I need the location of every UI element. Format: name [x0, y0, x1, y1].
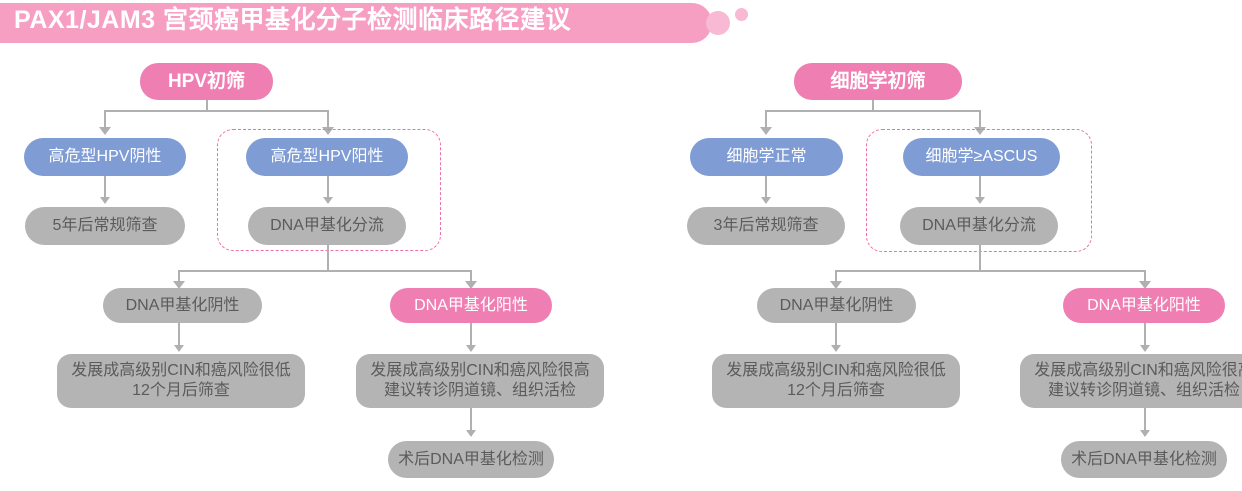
right-low-risk-outcome-node[interactable]: 发展成高级别CIN和癌风险很低 12个月后筛查 — [712, 354, 960, 408]
right-postop-node[interactable]: 术后DNA甲基化检测 — [1061, 441, 1227, 478]
left-neg-outcome-connector — [178, 323, 180, 346]
right-postop-arrow — [1140, 430, 1150, 437]
left-neg-outcome-arrow — [174, 345, 184, 352]
right-neg-outcome-connector — [835, 323, 837, 346]
left-postop-arrow — [466, 430, 476, 437]
left-methylation-positive-node[interactable]: DNA甲基化阳性 — [390, 288, 552, 323]
left-routine-screening-node[interactable]: 5年后常规筛查 — [25, 207, 185, 245]
left-high-risk-outcome-node[interactable]: 发展成高级别CIN和癌风险很高 建议转诊阴道镜、组织活检 — [356, 354, 604, 408]
left-pos-connector — [327, 176, 329, 198]
right-triage-stem — [979, 245, 981, 271]
right-pos-outcome-connector — [1144, 323, 1146, 346]
right-cytology-ascus-node[interactable]: 细胞学≥ASCUS — [903, 138, 1060, 176]
right-methylation-triage-node[interactable]: DNA甲基化分流 — [900, 207, 1058, 245]
right-neg-connector-arrow — [761, 197, 771, 204]
left-postop-connector — [470, 408, 472, 431]
left-branch-pos-drop — [327, 110, 329, 128]
right-root-node[interactable]: 细胞学初筛 — [794, 63, 962, 100]
diagram-canvas: PAX1/JAM3 宫颈癌甲基化分子检测临床路径建议 HPV初筛 高危型HPV阴… — [0, 0, 1242, 491]
left-root-node[interactable]: HPV初筛 — [140, 63, 273, 100]
left-neg-connector — [104, 176, 106, 198]
left-hpv-positive-node[interactable]: 高危型HPV阳性 — [246, 138, 408, 176]
right-pos-outcome-arrow — [1140, 345, 1150, 352]
left-pos-outcome-connector — [470, 323, 472, 346]
right-root-split-bar — [765, 110, 980, 112]
right-methylation-negative-node[interactable]: DNA甲基化阴性 — [757, 288, 916, 323]
decorative-dot-small — [735, 8, 748, 21]
right-neg-outcome-arrow — [831, 345, 841, 352]
decorative-dot-large — [706, 11, 730, 35]
left-triage-stem — [327, 245, 329, 271]
right-branch-neg-arrow — [760, 127, 772, 135]
right-pos-connector-arrow — [975, 197, 985, 204]
left-branch-neg-drop — [104, 110, 106, 128]
left-neg-connector-arrow — [100, 197, 110, 204]
left-methylation-negative-node[interactable]: DNA甲基化阴性 — [103, 288, 262, 323]
right-neg-connector — [765, 176, 767, 198]
left-postop-node[interactable]: 术后DNA甲基化检测 — [388, 441, 554, 478]
left-methylation-triage-node[interactable]: DNA甲基化分流 — [248, 207, 406, 245]
right-branch-pos-drop — [979, 110, 981, 128]
left-root-split-bar — [104, 110, 328, 112]
left-pos-outcome-arrow — [466, 345, 476, 352]
left-pos-connector-arrow — [323, 197, 333, 204]
right-triage-split-bar — [835, 270, 1145, 272]
right-high-risk-outcome-node[interactable]: 发展成高级别CIN和癌风险很高 建议转诊阴道镜、组织活检 — [1020, 354, 1242, 408]
left-hpv-negative-node[interactable]: 高危型HPV阴性 — [24, 138, 186, 176]
right-cytology-normal-node[interactable]: 细胞学正常 — [690, 138, 843, 176]
right-methylation-positive-node[interactable]: DNA甲基化阳性 — [1063, 288, 1225, 323]
page-title: PAX1/JAM3 宫颈癌甲基化分子检测临床路径建议 — [14, 4, 571, 36]
left-low-risk-outcome-node[interactable]: 发展成高级别CIN和癌风险很低 12个月后筛查 — [57, 354, 305, 408]
left-branch-neg-arrow — [99, 127, 111, 135]
left-triage-split-bar — [178, 270, 471, 272]
right-branch-neg-drop — [765, 110, 767, 128]
right-pos-connector — [979, 176, 981, 198]
right-postop-connector — [1144, 408, 1146, 431]
right-routine-screening-node[interactable]: 3年后常规筛查 — [687, 207, 845, 245]
